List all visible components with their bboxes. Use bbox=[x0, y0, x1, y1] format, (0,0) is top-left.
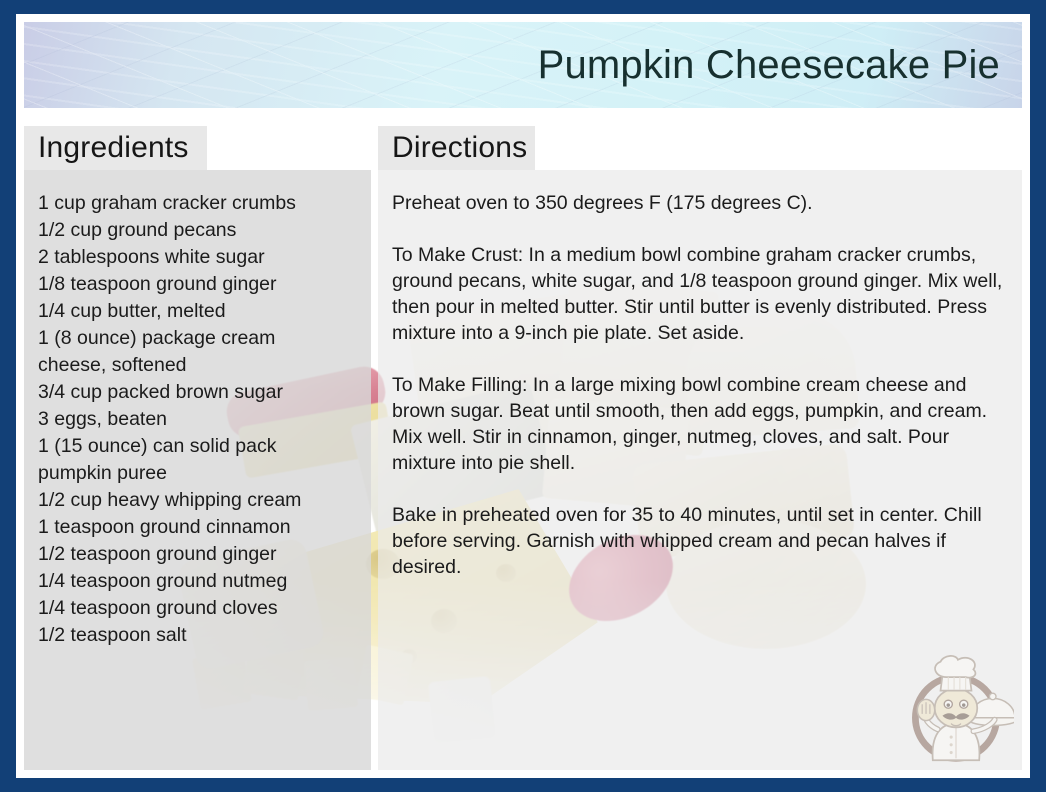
ingredients-header-tab: Ingredients bbox=[24, 126, 207, 170]
ingredient-item: 1/2 cup ground pecans bbox=[38, 217, 357, 244]
directions-header-tab: Directions bbox=[378, 126, 535, 170]
direction-step: Preheat oven to 350 degrees F (175 degre… bbox=[392, 190, 1008, 216]
ingredients-body: 1 cup graham cracker crumbs 1/2 cup grou… bbox=[24, 170, 371, 770]
ingredient-item: 1/2 teaspoon ground ginger bbox=[38, 541, 357, 568]
ingredient-item: 1/4 cup butter, melted bbox=[38, 298, 357, 325]
chef-mascot-logo bbox=[898, 652, 1014, 768]
card-inner: Pumpkin Cheesecake Pie Ingredients 1 cup… bbox=[16, 14, 1030, 778]
ingredient-item: 1 (15 ounce) can solid pack pumpkin pure… bbox=[38, 433, 357, 487]
directions-steps: Preheat oven to 350 degrees F (175 degre… bbox=[392, 190, 1008, 580]
ingredient-item: 3 eggs, beaten bbox=[38, 406, 357, 433]
ingredient-item: 1/2 cup heavy whipping cream bbox=[38, 487, 357, 514]
ingredients-panel: Ingredients 1 cup graham cracker crumbs … bbox=[24, 116, 371, 778]
ingredient-item: 1 cup graham cracker crumbs bbox=[38, 190, 357, 217]
ingredient-item: 3/4 cup packed brown sugar bbox=[38, 379, 357, 406]
header-banner: Pumpkin Cheesecake Pie bbox=[24, 22, 1022, 108]
ingredient-item: 1/4 teaspoon ground nutmeg bbox=[38, 568, 357, 595]
ingredient-item: 1/4 teaspoon ground cloves bbox=[38, 595, 357, 622]
direction-step: Bake in preheated oven for 35 to 40 minu… bbox=[392, 502, 1008, 580]
direction-step: To Make Filling: In a large mixing bowl … bbox=[392, 372, 1008, 476]
content-columns: Ingredients 1 cup graham cracker crumbs … bbox=[16, 116, 1030, 778]
recipe-card: Pumpkin Cheesecake Pie Ingredients 1 cup… bbox=[0, 0, 1046, 792]
ingredient-item: 1 (8 ounce) package cream cheese, soften… bbox=[38, 325, 357, 379]
ingredient-item: 1 teaspoon ground cinnamon bbox=[38, 514, 357, 541]
page-title: Pumpkin Cheesecake Pie bbox=[538, 43, 1022, 88]
ingredient-item: 1/2 teaspoon salt bbox=[38, 622, 357, 649]
ingredients-heading: Ingredients bbox=[38, 131, 189, 165]
ingredients-list: 1 cup graham cracker crumbs 1/2 cup grou… bbox=[38, 190, 357, 649]
ingredient-item: 1/8 teaspoon ground ginger bbox=[38, 271, 357, 298]
direction-step: To Make Crust: In a medium bowl combine … bbox=[392, 242, 1008, 346]
directions-heading: Directions bbox=[392, 131, 527, 165]
ingredient-item: 2 tablespoons white sugar bbox=[38, 244, 357, 271]
